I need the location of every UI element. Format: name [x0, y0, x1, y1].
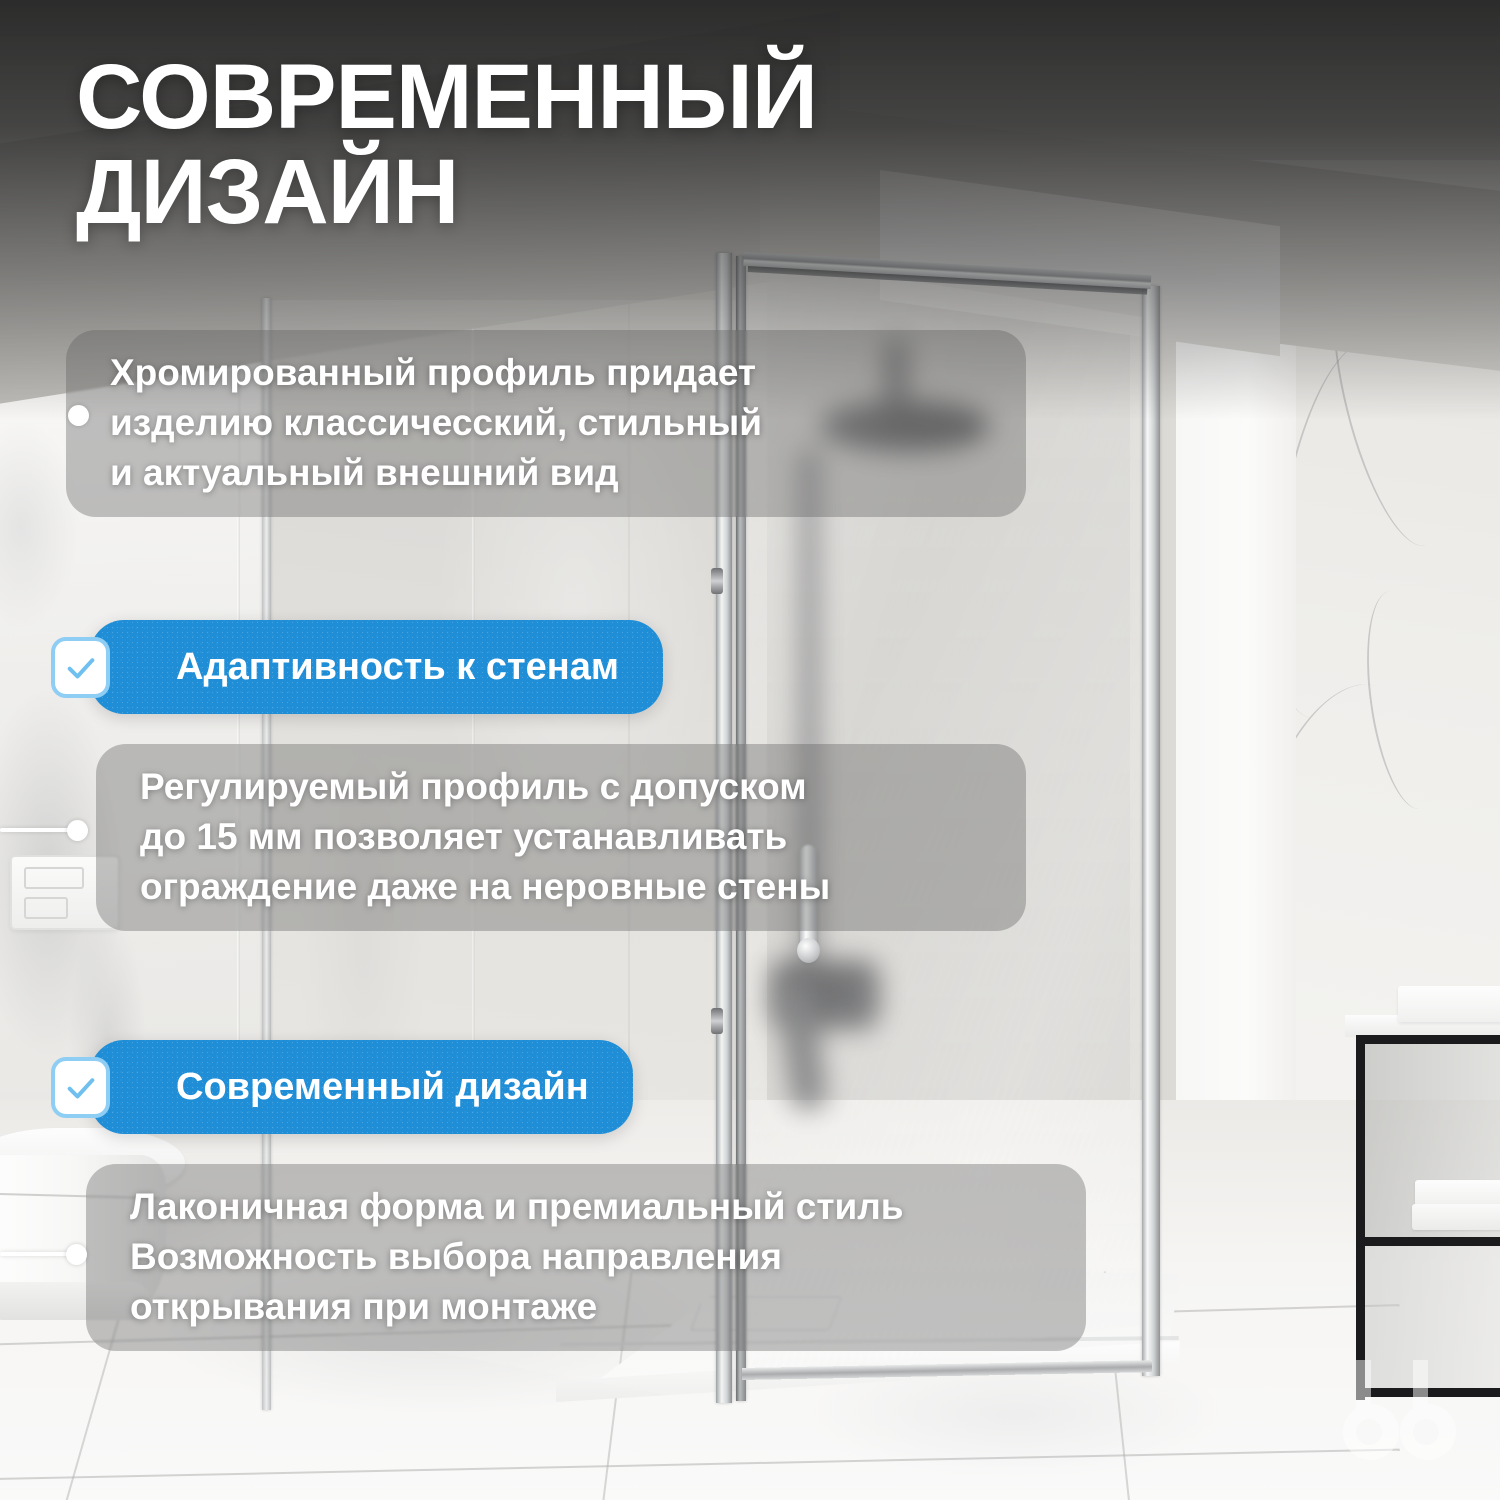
pill-modern-design[interactable]: Современный дизайн: [90, 1040, 633, 1134]
check-icon: [51, 1057, 110, 1118]
feature-line: Хромированный профиль придает: [110, 352, 756, 393]
feature-line: до 15 мм позволяет устанавливать: [140, 816, 787, 857]
feature-line: Лаконичная форма и премиальный стиль: [130, 1186, 903, 1227]
pill-label: Адаптивность к стенам: [176, 646, 619, 689]
check-icon: [51, 637, 110, 698]
leader-line-2: [0, 828, 73, 832]
poster: СОВРЕМЕННЫЙ ДИЗАЙН Хромированный профиль…: [0, 0, 1500, 1500]
feature-text-card-3: Лаконичная форма и премиальный стиль Воз…: [86, 1164, 1086, 1351]
feature-text-card-2: Регулируемый профиль с допуском до 15 мм…: [96, 744, 1026, 931]
bullet-dot-2: [67, 820, 88, 841]
feature-line: Регулируемый профиль с допуском: [140, 766, 807, 807]
bullet-dot-3: [66, 1244, 87, 1265]
feature-text-card-1: Хромированный профиль придает изделию кл…: [66, 330, 1026, 517]
page-title: СОВРЕМЕННЫЙ ДИЗАЙН: [76, 50, 976, 240]
pill-label: Современный дизайн: [176, 1066, 589, 1109]
feature-line: ограждение даже на неровные стены: [140, 866, 830, 907]
feature-line: изделию классичесский, стильный: [110, 402, 762, 443]
pill-wall-adaptivity[interactable]: Адаптивность к стенам: [90, 620, 663, 714]
feature-line: и актуальный внешний вид: [110, 452, 619, 493]
overlay-content: СОВРЕМЕННЫЙ ДИЗАЙН Хромированный профиль…: [0, 0, 1500, 1500]
leader-line-3: [0, 1252, 72, 1256]
dd-logo-watermark: [1326, 1354, 1476, 1472]
feature-line: открывания при монтаже: [130, 1286, 597, 1327]
feature-line: Возможность выбора направления: [130, 1236, 782, 1277]
bullet-dot-1: [68, 405, 89, 426]
